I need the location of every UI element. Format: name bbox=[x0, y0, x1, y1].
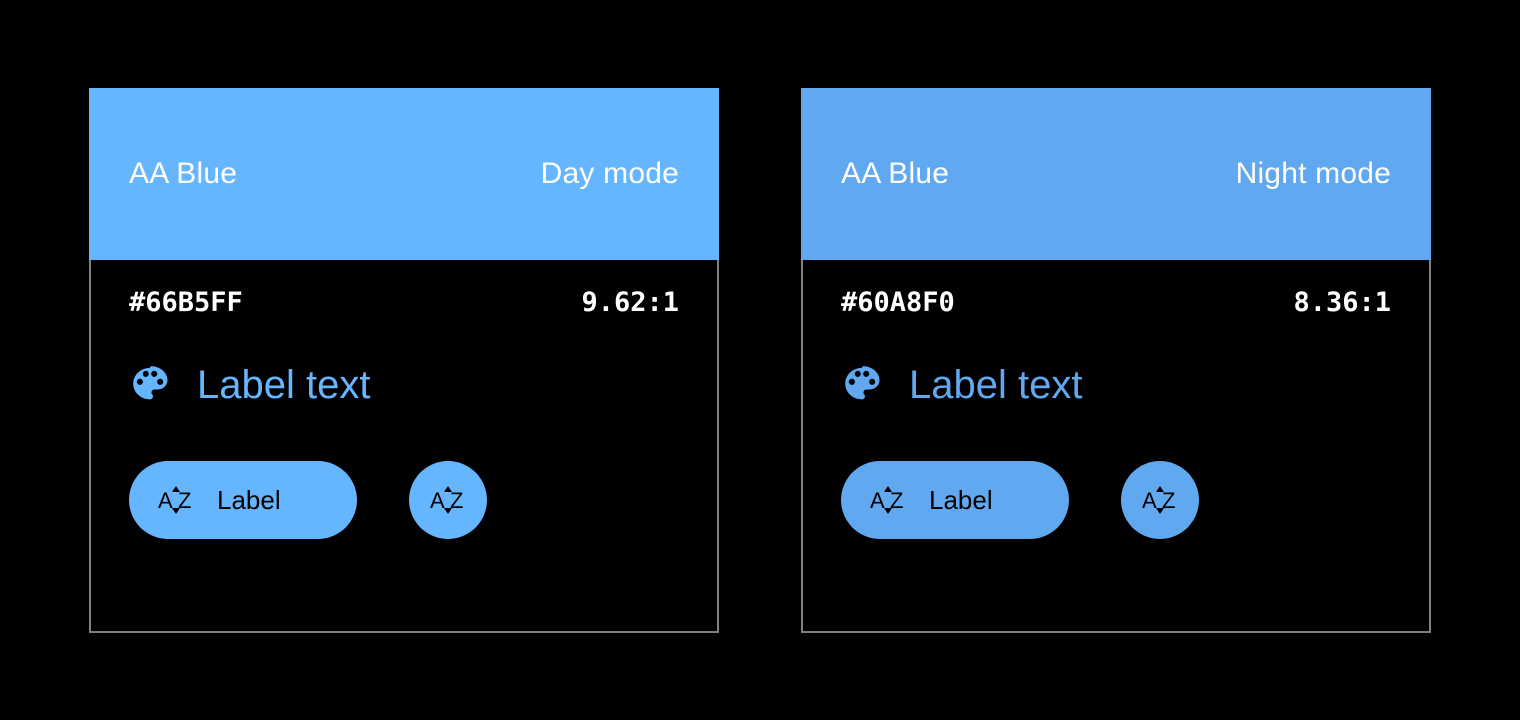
label-text-row: Label text bbox=[129, 357, 370, 413]
card-header-day: AA Blue Day mode bbox=[89, 88, 719, 260]
hex-value: #66B5FF bbox=[129, 289, 243, 316]
sort-alpha-az-icon: A Z bbox=[1141, 485, 1179, 515]
svg-text:A: A bbox=[158, 488, 173, 513]
buttons-row: A Z Label A Z bbox=[129, 460, 487, 540]
card-header-night: AA Blue Night mode bbox=[801, 88, 1431, 260]
sort-alpha-az-icon: A Z bbox=[157, 485, 195, 515]
svg-text:A: A bbox=[430, 488, 445, 513]
sort-alpha-az-icon: A Z bbox=[869, 485, 907, 515]
card-mode-label: Night mode bbox=[1236, 159, 1391, 189]
card-title: AA Blue bbox=[129, 159, 237, 189]
card-body-night: #60A8F0 8.36:1 Label text A Z bbox=[801, 260, 1431, 633]
buttons-row: A Z Label A Z bbox=[841, 460, 1199, 540]
preview-canvas: AA Blue Day mode #66B5FF 9.62:1 Label te… bbox=[0, 0, 1520, 720]
card-body-day: #66B5FF 9.62:1 Label text A Z bbox=[89, 260, 719, 633]
palette-icon bbox=[129, 364, 171, 406]
card-mode-label: Day mode bbox=[541, 159, 679, 189]
svg-text:Z: Z bbox=[890, 488, 903, 513]
sort-label-button-text: Label bbox=[929, 487, 993, 513]
color-meta-row: #60A8F0 8.36:1 bbox=[841, 282, 1391, 322]
sort-icon-button[interactable]: A Z bbox=[409, 461, 487, 539]
sort-icon-button[interactable]: A Z bbox=[1121, 461, 1199, 539]
svg-text:A: A bbox=[1142, 488, 1157, 513]
card-title: AA Blue bbox=[841, 159, 949, 189]
color-meta-row: #66B5FF 9.62:1 bbox=[129, 282, 679, 322]
svg-text:A: A bbox=[870, 488, 885, 513]
contrast-ratio-value: 8.36:1 bbox=[1293, 289, 1391, 316]
contrast-ratio-value: 9.62:1 bbox=[581, 289, 679, 316]
label-text-row: Label text bbox=[841, 357, 1082, 413]
color-preview-card-day: AA Blue Day mode #66B5FF 9.62:1 Label te… bbox=[89, 88, 719, 633]
sort-label-button-text: Label bbox=[217, 487, 281, 513]
sort-label-button[interactable]: A Z Label bbox=[129, 461, 357, 539]
label-text: Label text bbox=[909, 365, 1082, 405]
label-text: Label text bbox=[197, 365, 370, 405]
sort-alpha-az-icon: A Z bbox=[429, 485, 467, 515]
color-preview-card-night: AA Blue Night mode #60A8F0 8.36:1 Label … bbox=[801, 88, 1431, 633]
palette-icon bbox=[841, 364, 883, 406]
svg-text:Z: Z bbox=[450, 488, 463, 513]
svg-text:Z: Z bbox=[1162, 488, 1175, 513]
sort-label-button[interactable]: A Z Label bbox=[841, 461, 1069, 539]
hex-value: #60A8F0 bbox=[841, 289, 955, 316]
svg-text:Z: Z bbox=[178, 488, 191, 513]
